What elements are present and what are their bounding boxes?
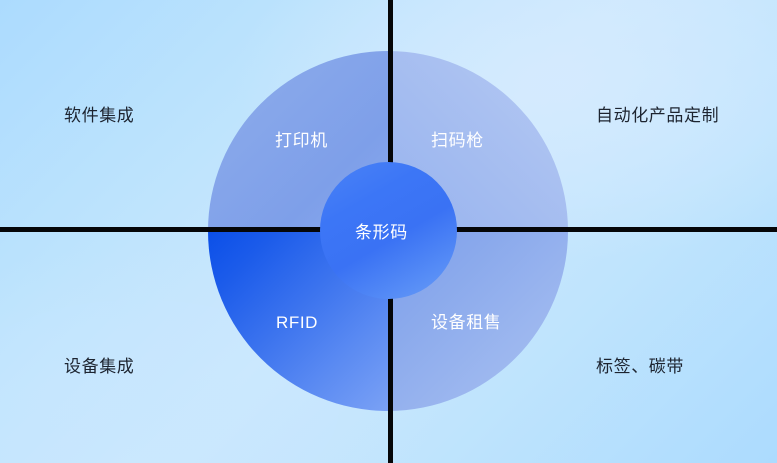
ring-label-rfid: RFID xyxy=(276,314,318,331)
ring-label-printer: 打印机 xyxy=(275,132,328,149)
quadrant-caption-software-integration: 软件集成 xyxy=(64,107,134,124)
ring-label-scanner: 扫码枪 xyxy=(431,132,484,149)
quadrant-caption-labels-ribbons: 标签、碳带 xyxy=(596,358,684,375)
quadrant-caption-device-integration: 设备集成 xyxy=(64,358,134,375)
ring-label-rental: 设备租售 xyxy=(431,314,501,331)
quadrant-caption-automation-customization: 自动化产品定制 xyxy=(596,107,719,124)
diagram-canvas: 打印机 扫码枪 RFID 设备租售 条形码 软件集成 自动化产品定制 设备集成 … xyxy=(0,0,777,463)
center-core-label: 条形码 xyxy=(355,224,408,241)
